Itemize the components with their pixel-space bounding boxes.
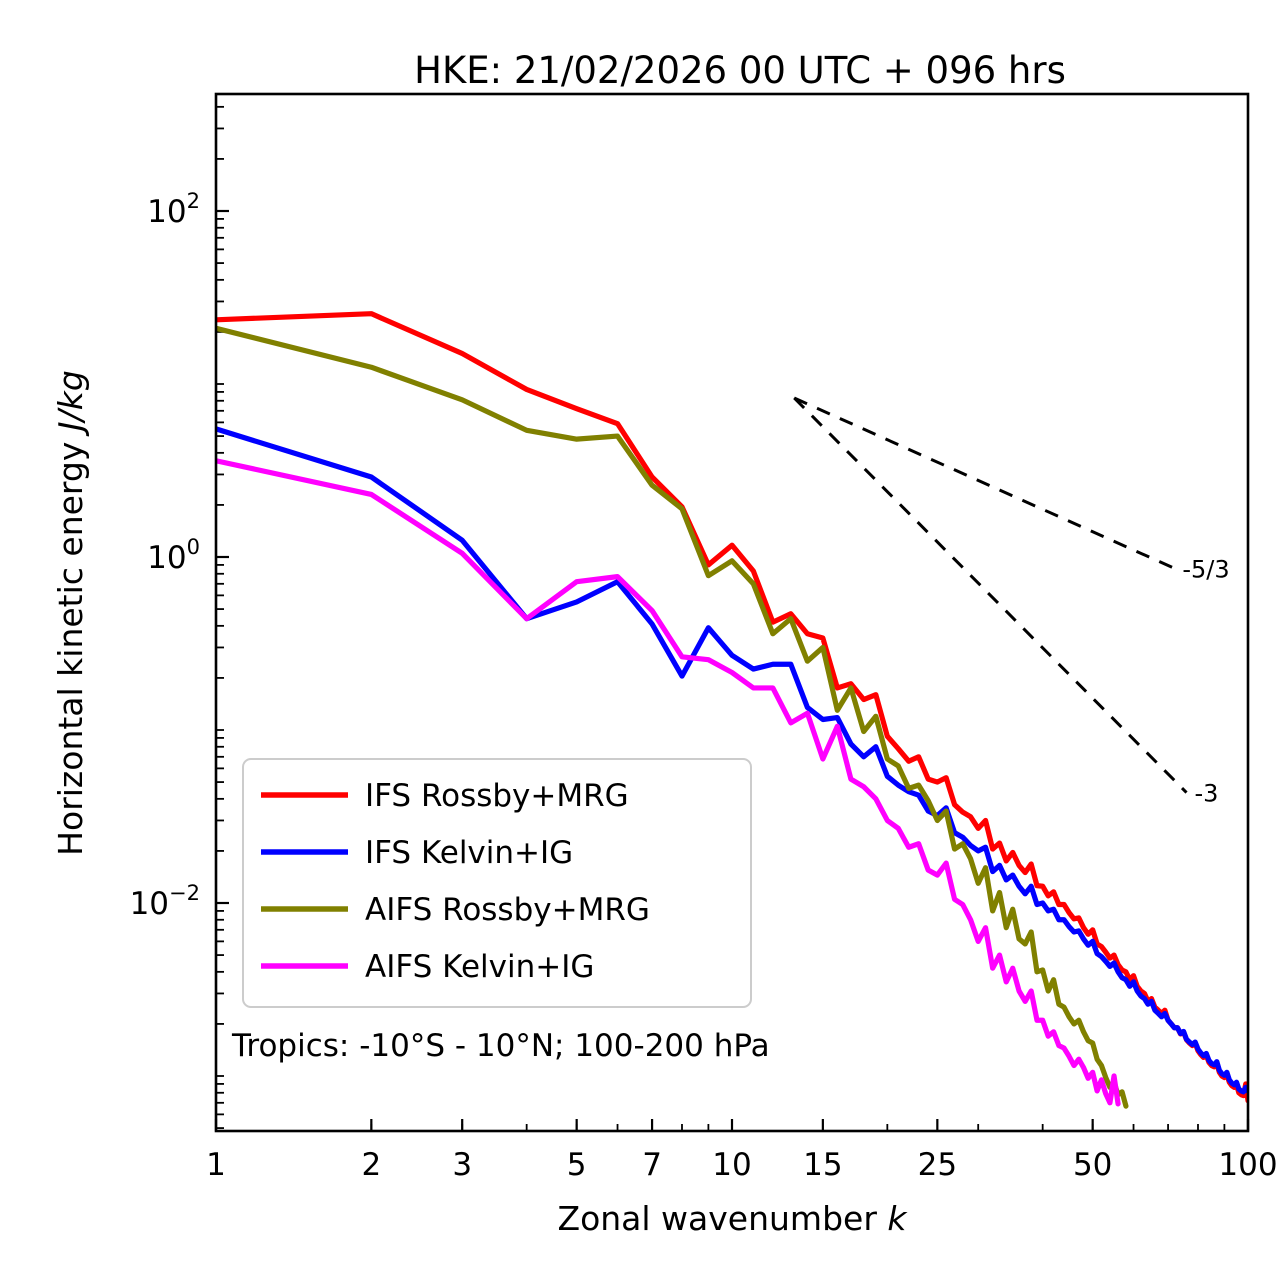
- x-tick-label-1: 1: [206, 1147, 226, 1183]
- x-tick-label-100: 100: [1218, 1147, 1277, 1183]
- y-axis-label: Horizontal kinetic energy J/kg: [51, 370, 90, 856]
- y-axis-label-units: J/kg: [51, 370, 90, 437]
- chart-title: HKE: 21/02/2026 00 UTC + 096 hrs: [414, 49, 1066, 92]
- y-tick-labels: 10210010−2: [130, 189, 200, 922]
- reference-line--5-3: [794, 398, 1174, 568]
- x-axis-label-symbol: k: [887, 1199, 908, 1238]
- x-tick-label-10: 10: [712, 1147, 751, 1183]
- x-tick-label-5: 5: [567, 1147, 587, 1183]
- reference-slope-lines: -5/3-3: [794, 398, 1229, 808]
- x-axis-label-main: Zonal wavenumber: [557, 1199, 887, 1238]
- legend-label: IFS Kelvin+IG: [365, 835, 573, 871]
- x-tick-label-2: 2: [361, 1147, 381, 1183]
- legend-label: AIFS Kelvin+IG: [365, 949, 594, 985]
- svg-text:Horizontal kinetic energy J/kg: Horizontal kinetic energy J/kg: [51, 370, 90, 856]
- legend[interactable]: IFS Rossby+MRGIFS Kelvin+IGAIFS Rossby+M…: [243, 759, 751, 1007]
- reference-line-label--3: -3: [1194, 780, 1218, 808]
- y-tick-label-10^-2: 10−2: [130, 881, 200, 922]
- y-axis-label-main: Horizontal kinetic energy: [51, 431, 90, 856]
- x-axis-label: Zonal wavenumber k: [557, 1199, 908, 1238]
- x-tick-label-7: 7: [642, 1147, 662, 1183]
- y-tick-label-10^2: 102: [147, 189, 200, 230]
- x-tick-label-15: 15: [803, 1147, 842, 1183]
- x-tick-label-25: 25: [918, 1147, 957, 1183]
- chart-page: HKE: 21/02/2026 00 UTC + 096 hrs Horizon…: [0, 0, 1280, 1288]
- hke-spectrum-chart: HKE: 21/02/2026 00 UTC + 096 hrs Horizon…: [0, 0, 1280, 1288]
- reference-line-label--5-3: -5/3: [1182, 555, 1229, 583]
- x-tick-labels: 1235710152550100: [206, 1147, 1277, 1183]
- svg-text:Zonal wavenumber k: Zonal wavenumber k: [557, 1199, 908, 1238]
- reference-line--3: [794, 398, 1186, 793]
- y-tick-label-10^0: 100: [147, 535, 200, 576]
- x-tick-label-3: 3: [452, 1147, 472, 1183]
- legend-label: AIFS Rossby+MRG: [365, 892, 650, 928]
- x-tick-label-50: 50: [1073, 1147, 1112, 1183]
- legend-label: IFS Rossby+MRG: [365, 778, 629, 814]
- region-annotation: Tropics: -10°S - 10°N; 100-200 hPa: [231, 1028, 770, 1064]
